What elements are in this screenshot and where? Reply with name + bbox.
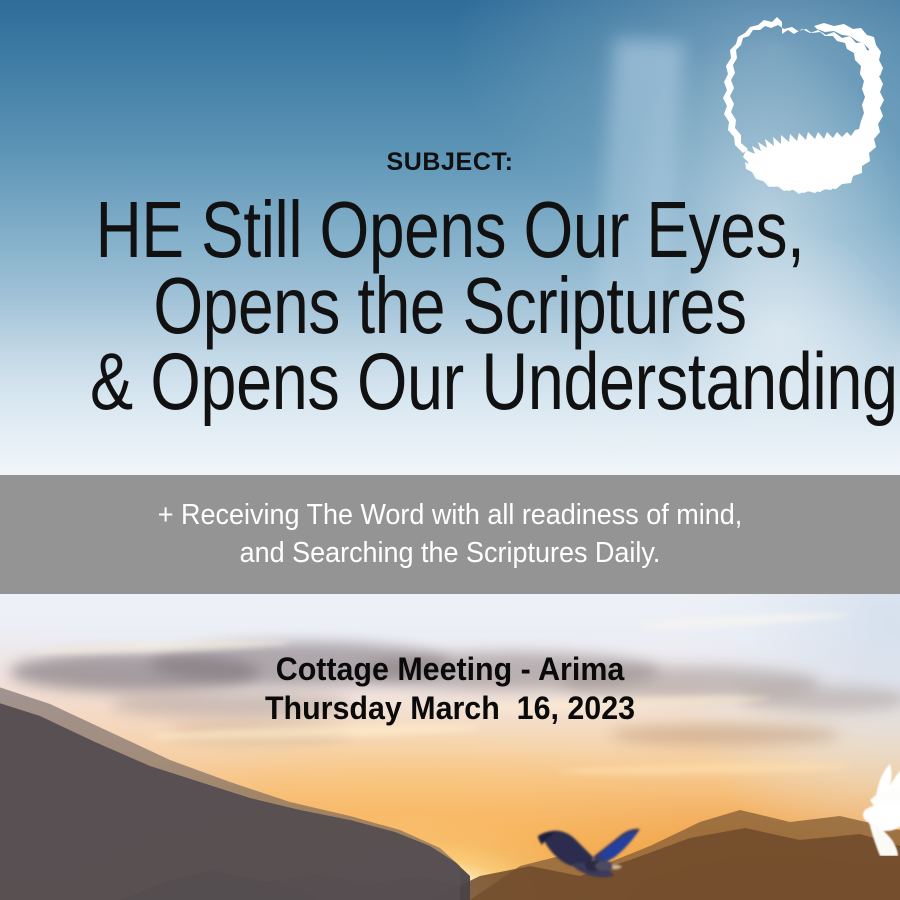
- subject-label: SUBJECT:: [0, 148, 900, 177]
- subtitle-text: + Receiving The Word with all readiness …: [45, 497, 854, 572]
- poster-title: HE Still Opens Our Eyes, Opens the Scrip…: [0, 192, 900, 421]
- cloud-streak-icon: [640, 611, 850, 631]
- poster-canvas: SUBJECT: HE Still Opens Our Eyes, Opens …: [0, 0, 900, 900]
- subtitle-line-2: and Searching the Scriptures Daily.: [45, 535, 854, 573]
- event-line-date: Thursday March 16, 2023: [23, 689, 878, 728]
- title-line-1: HE Still Opens Our Eyes,: [90, 192, 810, 268]
- sunset-photo-background: [0, 594, 900, 900]
- title-line-3: & Opens Our Understanding: [90, 344, 810, 421]
- dove-icon: [842, 760, 900, 856]
- headline-block: SUBJECT: HE Still Opens Our Eyes, Opens …: [0, 0, 900, 475]
- subtitle-line-1: + Receiving The Word with all readiness …: [45, 497, 854, 535]
- event-line-meeting: Cottage Meeting - Arima: [23, 650, 878, 689]
- title-line-2: Opens the Scriptures: [90, 268, 810, 344]
- event-details: Cottage Meeting - Arima Thursday March 1…: [23, 650, 878, 728]
- eagle-icon: [536, 816, 656, 894]
- subtitle-band: + Receiving The Word with all readiness …: [0, 475, 900, 594]
